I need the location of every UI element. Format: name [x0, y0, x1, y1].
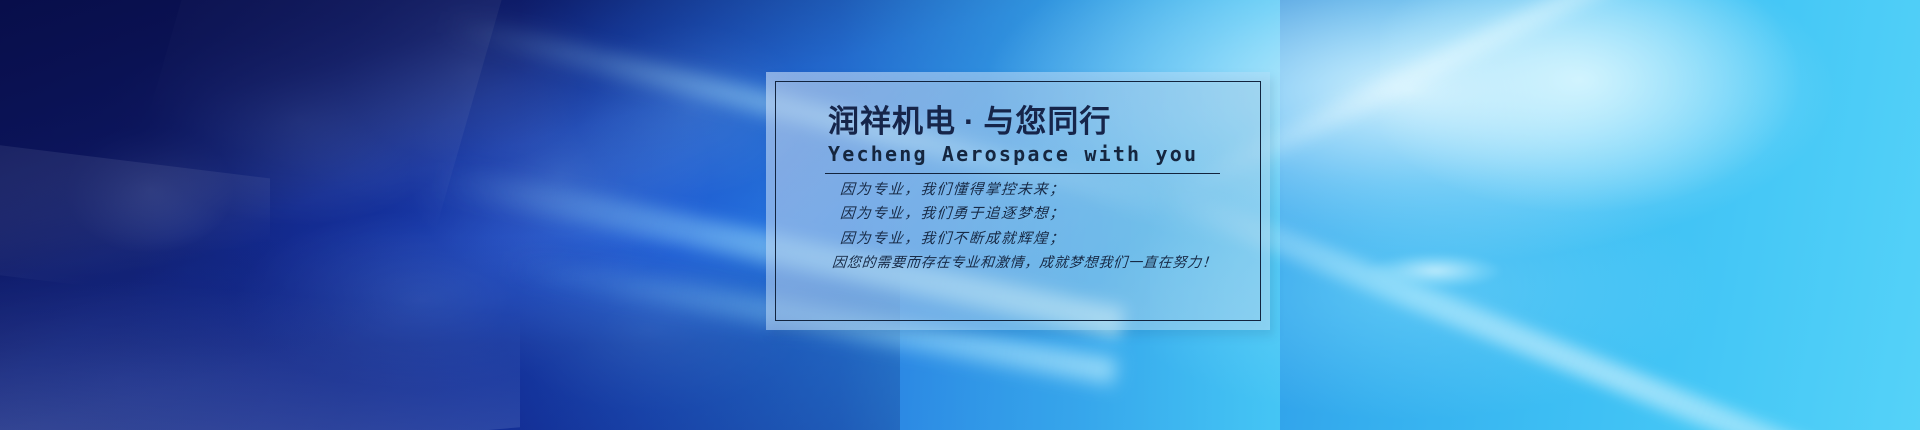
title-separator-dot: · [964, 104, 975, 139]
slogan-panel: 润祥机电·与您同行 Yecheng Aerospace with you 因为专… [766, 72, 1270, 330]
slogan-panel-inner-border: 润祥机电·与您同行 Yecheng Aerospace with you 因为专… [775, 81, 1261, 321]
upper-right-glow [1380, 0, 1920, 230]
company-name-cn: 润祥机电 [828, 104, 956, 139]
company-title-chinese: 润祥机电·与您同行 [828, 104, 1234, 140]
slogan-line: 因为专业，我们勇于追逐梦想； [839, 207, 1234, 222]
company-title-english: Yecheng Aerospace with you [828, 141, 1234, 166]
slogan-line: 因为专业，我们不断成就辉煌； [839, 232, 1234, 247]
slogan-line: 因您的需要而存在专业和激情，成就梦想我们一直在努力！ [832, 256, 1235, 270]
hero-banner: 润祥机电·与您同行 Yecheng Aerospace with you 因为专… [0, 0, 1920, 430]
company-tagline-cn: 与您同行 [983, 104, 1111, 139]
title-divider-rule [825, 173, 1220, 174]
slogan-line: 因为专业，我们懂得掌控未来； [839, 183, 1234, 198]
slogan-list: 因为专业，我们懂得掌控未来； 因为专业，我们勇于追逐梦想； 因为专业，我们不断成… [828, 183, 1234, 271]
